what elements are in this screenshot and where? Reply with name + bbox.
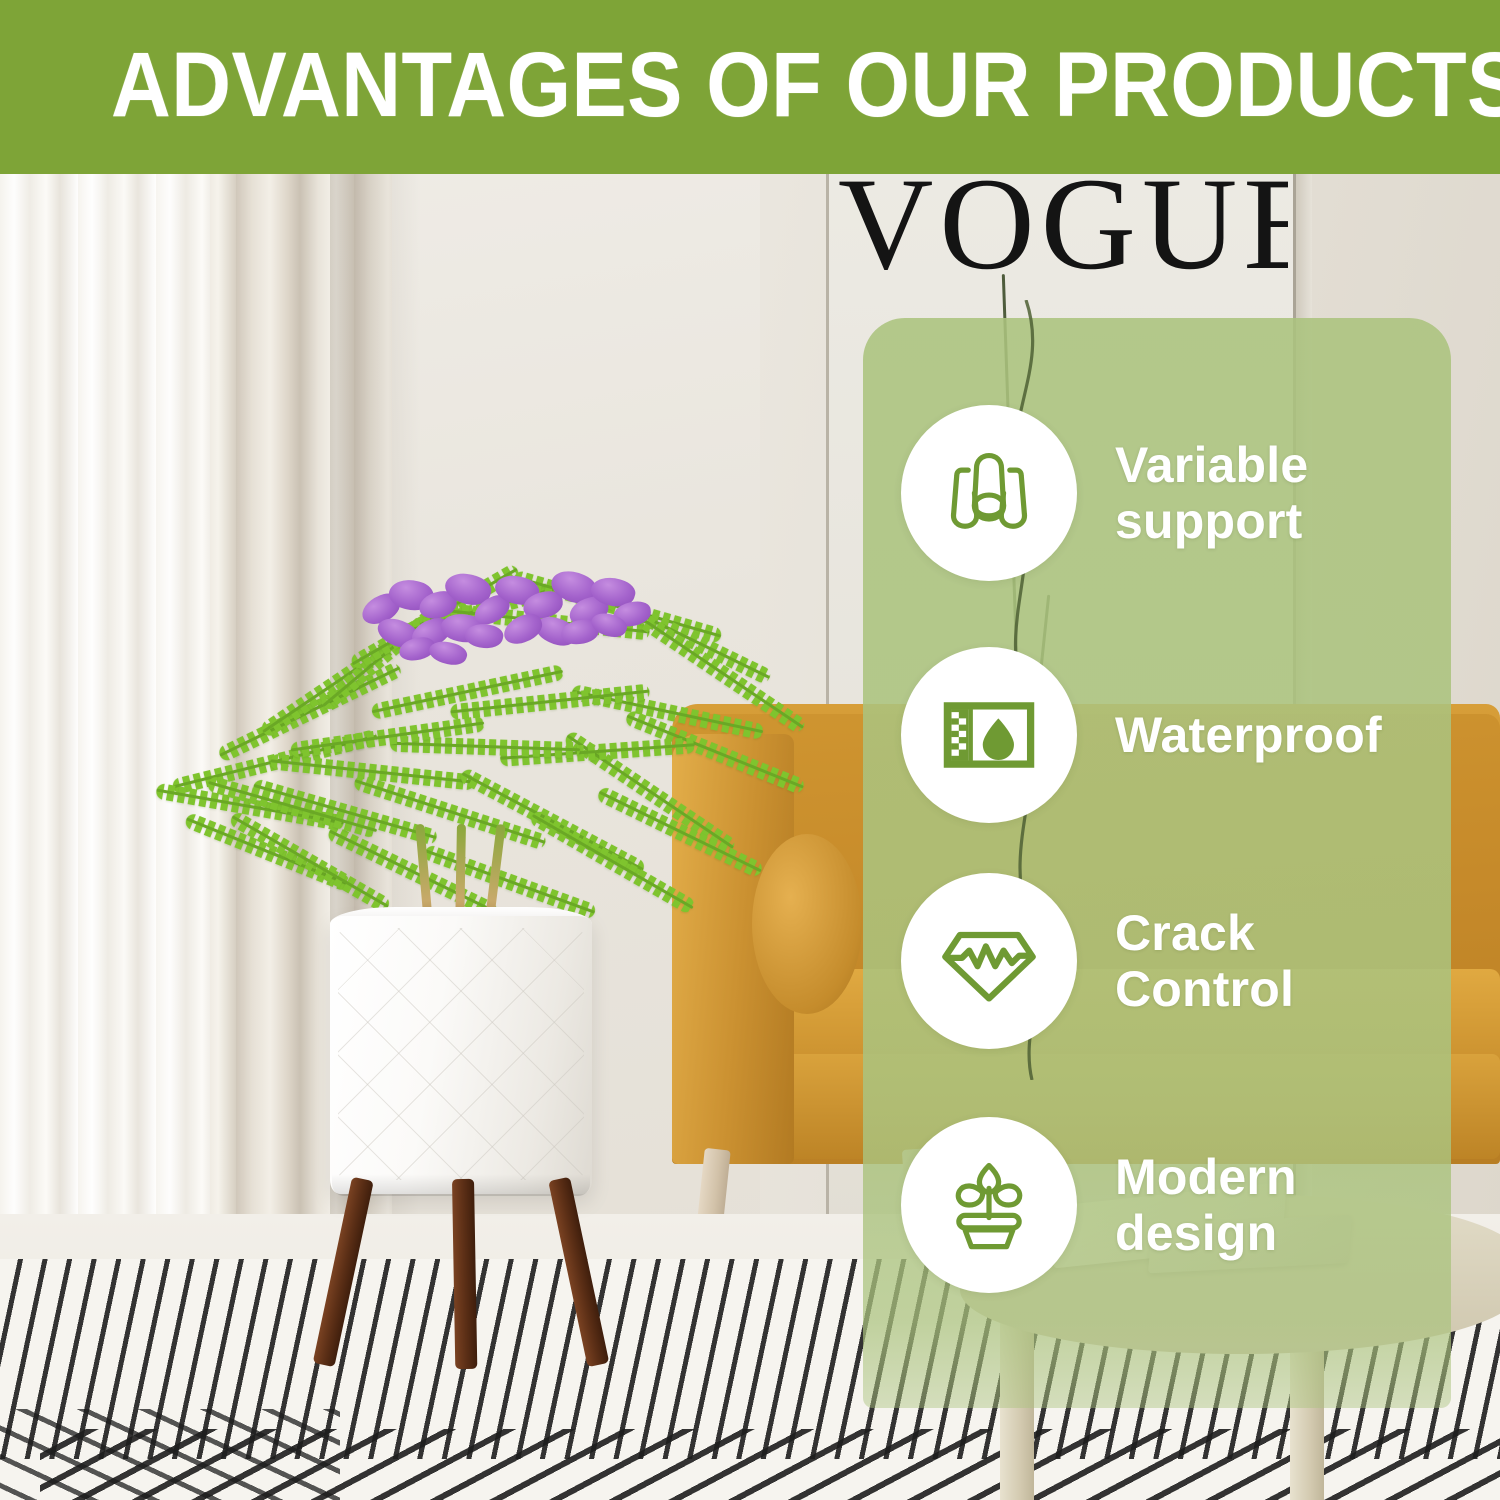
feature-item-modern-design[interactable]: Modern design (863, 1110, 1451, 1300)
wooden-stand-leg (548, 1177, 609, 1367)
feature-item-waterproof[interactable]: Waterproof (863, 640, 1451, 830)
feature-label: Waterproof (1115, 707, 1382, 763)
pot-embossed-pattern (338, 928, 584, 1180)
tripod-legs-icon (901, 405, 1077, 581)
feature-label: Crack Control (1115, 905, 1294, 1017)
feature-label: Modern design (1115, 1149, 1297, 1261)
purple-flowers (355, 562, 675, 672)
crack-control-diamond-icon (901, 873, 1077, 1049)
waterproof-droplet-icon (901, 647, 1077, 823)
header-banner: ADVANTAGES OF OUR PRODUCTS (0, 0, 1500, 174)
feature-item-variable-support[interactable]: Variable support (863, 398, 1451, 588)
product-advantages-infographic: VOGUE (0, 0, 1500, 1500)
feature-item-crack-control[interactable]: Crack Control (863, 866, 1451, 1056)
feature-label: Variable support (1115, 437, 1308, 549)
white-ceramic-pot (330, 916, 592, 1194)
wooden-stand-leg (313, 1177, 374, 1367)
features-list: Variable support (863, 318, 1451, 1408)
page-title: ADVANTAGES OF OUR PRODUCTS (75, 37, 1425, 137)
wooden-stand-leg (452, 1179, 477, 1369)
potted-plant-icon (901, 1117, 1077, 1293)
